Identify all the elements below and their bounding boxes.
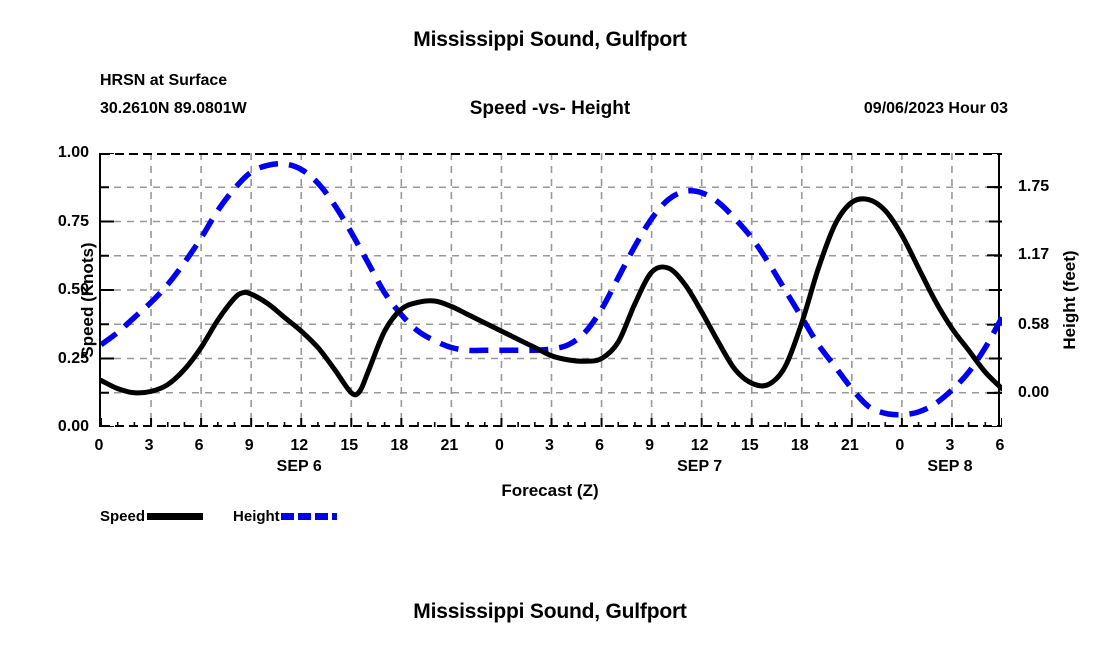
x-axis-day-label: SEP 8 bbox=[927, 458, 972, 476]
x-axis-tick-label: 18 bbox=[390, 437, 408, 455]
footer-caption: Mississippi Sound, Gulfport bbox=[0, 600, 1100, 624]
y-axis-left-tick-label: 1.00 bbox=[0, 144, 89, 162]
legend-item-speed: Speed bbox=[100, 508, 233, 525]
x-axis-tick-label: 6 bbox=[195, 437, 204, 455]
x-axis-tick-label: 15 bbox=[340, 437, 358, 455]
y-axis-left-tick-label: 0.50 bbox=[0, 281, 89, 299]
y-axis-right-tick-label: 0.00 bbox=[1018, 384, 1049, 402]
chart-page: Mississippi Sound, Gulfport HRSN at Surf… bbox=[0, 0, 1100, 650]
chart-legend: Speed Height bbox=[100, 508, 337, 525]
legend-swatch-speed-line bbox=[147, 513, 203, 520]
plot-area bbox=[99, 153, 1000, 427]
station-name: HRSN at Surface bbox=[100, 72, 227, 90]
x-axis-tick-label: 0 bbox=[95, 437, 104, 455]
x-axis-tick-label: 3 bbox=[145, 437, 154, 455]
x-axis-day-label: SEP 7 bbox=[677, 458, 722, 476]
x-axis-tick-label: 9 bbox=[645, 437, 654, 455]
x-axis-tick-label: 6 bbox=[996, 437, 1005, 455]
y-axis-right-label: Height (feet) bbox=[1060, 190, 1080, 410]
x-axis-tick-label: 0 bbox=[895, 437, 904, 455]
y-axis-left-label: Speed (Knots) bbox=[78, 190, 98, 410]
legend-label-height: Height bbox=[233, 508, 280, 525]
y-axis-right-tick-label: 1.75 bbox=[1018, 178, 1049, 196]
x-axis-tick-label: 12 bbox=[691, 437, 709, 455]
x-axis-tick-label: 15 bbox=[741, 437, 759, 455]
x-axis-tick-label: 21 bbox=[841, 437, 859, 455]
x-axis-tick-label: 3 bbox=[945, 437, 954, 455]
x-axis-tick-label: 21 bbox=[440, 437, 458, 455]
x-axis-tick-label: 0 bbox=[495, 437, 504, 455]
x-axis-tick-label: 18 bbox=[791, 437, 809, 455]
x-axis-tick-label: 6 bbox=[595, 437, 604, 455]
x-axis-tick-label: 3 bbox=[545, 437, 554, 455]
legend-swatch-height-line bbox=[281, 513, 337, 520]
page-title: Mississippi Sound, Gulfport bbox=[0, 28, 1100, 52]
forecast-datestamp: 09/06/2023 Hour 03 bbox=[864, 100, 1008, 118]
x-axis-tick-label: 9 bbox=[245, 437, 254, 455]
y-axis-left-tick-label: 0.75 bbox=[0, 213, 89, 231]
plot-canvas bbox=[101, 153, 1002, 427]
legend-item-height: Height bbox=[233, 508, 337, 525]
x-axis-day-label: SEP 6 bbox=[277, 458, 322, 476]
y-axis-right-tick-label: 1.17 bbox=[1018, 246, 1049, 264]
y-axis-left-tick-label: 0.00 bbox=[0, 418, 89, 436]
y-axis-left-tick-label: 0.25 bbox=[0, 350, 89, 368]
y-axis-right-tick-label: 0.58 bbox=[1018, 316, 1049, 334]
legend-label-speed: Speed bbox=[100, 508, 145, 525]
x-axis-label: Forecast (Z) bbox=[0, 481, 1100, 501]
x-axis-tick-label: 12 bbox=[290, 437, 308, 455]
